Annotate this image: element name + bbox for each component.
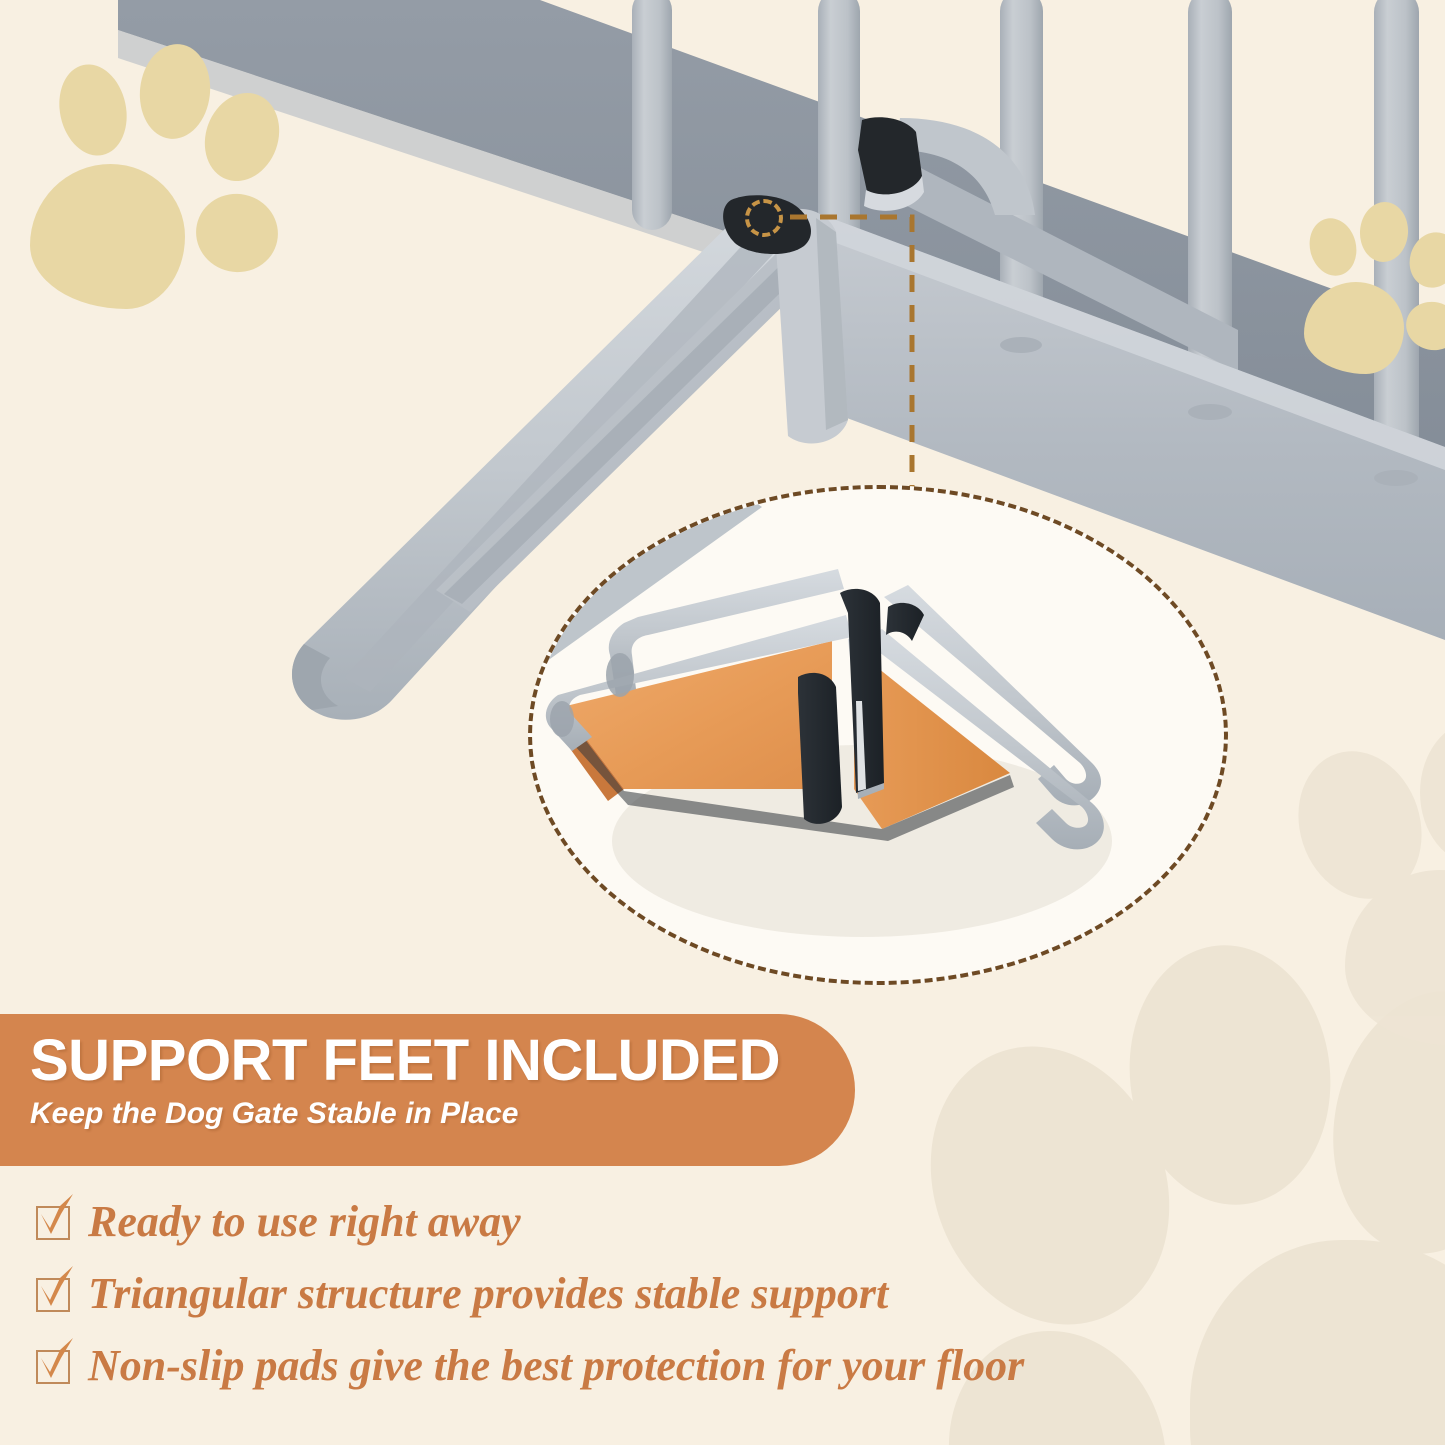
checkbox-checked-icon bbox=[36, 1206, 70, 1240]
gate-bar-base bbox=[1000, 337, 1042, 353]
paw-main-pad bbox=[30, 164, 185, 309]
feature-list: Ready to use right away Triangular struc… bbox=[36, 1186, 1406, 1402]
feature-banner: SUPPORT FEET INCLUDED Keep the Dog Gate … bbox=[0, 1014, 855, 1166]
paw-toe-pad bbox=[1358, 200, 1410, 263]
gate-vertical-bar bbox=[632, 0, 672, 230]
paw-toe-pad bbox=[189, 186, 285, 279]
clamp-black-left bbox=[798, 673, 842, 824]
paw-main-pad bbox=[1304, 282, 1404, 374]
gate-bar-base bbox=[1374, 470, 1418, 486]
banner-title: SUPPORT FEET INCLUDED bbox=[30, 1030, 855, 1091]
feature-item: Non-slip pads give the best protection f… bbox=[36, 1330, 1406, 1402]
feature-item: Triangular structure provides stable sup… bbox=[36, 1258, 1406, 1330]
paw-toe-pad bbox=[1403, 226, 1445, 294]
paw-print-top-left bbox=[18, 36, 308, 321]
callout-ring-marker bbox=[745, 199, 783, 237]
feature-item-label: Non-slip pads give the best protection f… bbox=[88, 1344, 1024, 1388]
paw-print-right-edge bbox=[1298, 190, 1445, 365]
frame-end-cap-left bbox=[606, 653, 634, 697]
feature-item-label: Ready to use right away bbox=[88, 1200, 521, 1244]
product-feature-image: SUPPORT FEET INCLUDED Keep the Dog Gate … bbox=[0, 0, 1445, 1445]
feature-item-label: Triangular structure provides stable sup… bbox=[88, 1272, 888, 1316]
feature-item: Ready to use right away bbox=[36, 1186, 1406, 1258]
checkbox-checked-icon bbox=[36, 1350, 70, 1384]
magnified-detail-callout bbox=[528, 485, 1228, 985]
clamp-black-right bbox=[886, 603, 924, 641]
frame-end-cap-bottom-left bbox=[550, 701, 574, 737]
paw-toe-pad bbox=[135, 41, 215, 143]
paw-toe-pad bbox=[1304, 213, 1363, 280]
paw-toe-pad bbox=[51, 58, 135, 162]
checkbox-checked-icon bbox=[36, 1278, 70, 1312]
paw-toe-pad bbox=[1402, 297, 1445, 355]
banner-subtitle: Keep the Dog Gate Stable in Place bbox=[30, 1097, 855, 1131]
gate-bar-base bbox=[1188, 404, 1232, 420]
